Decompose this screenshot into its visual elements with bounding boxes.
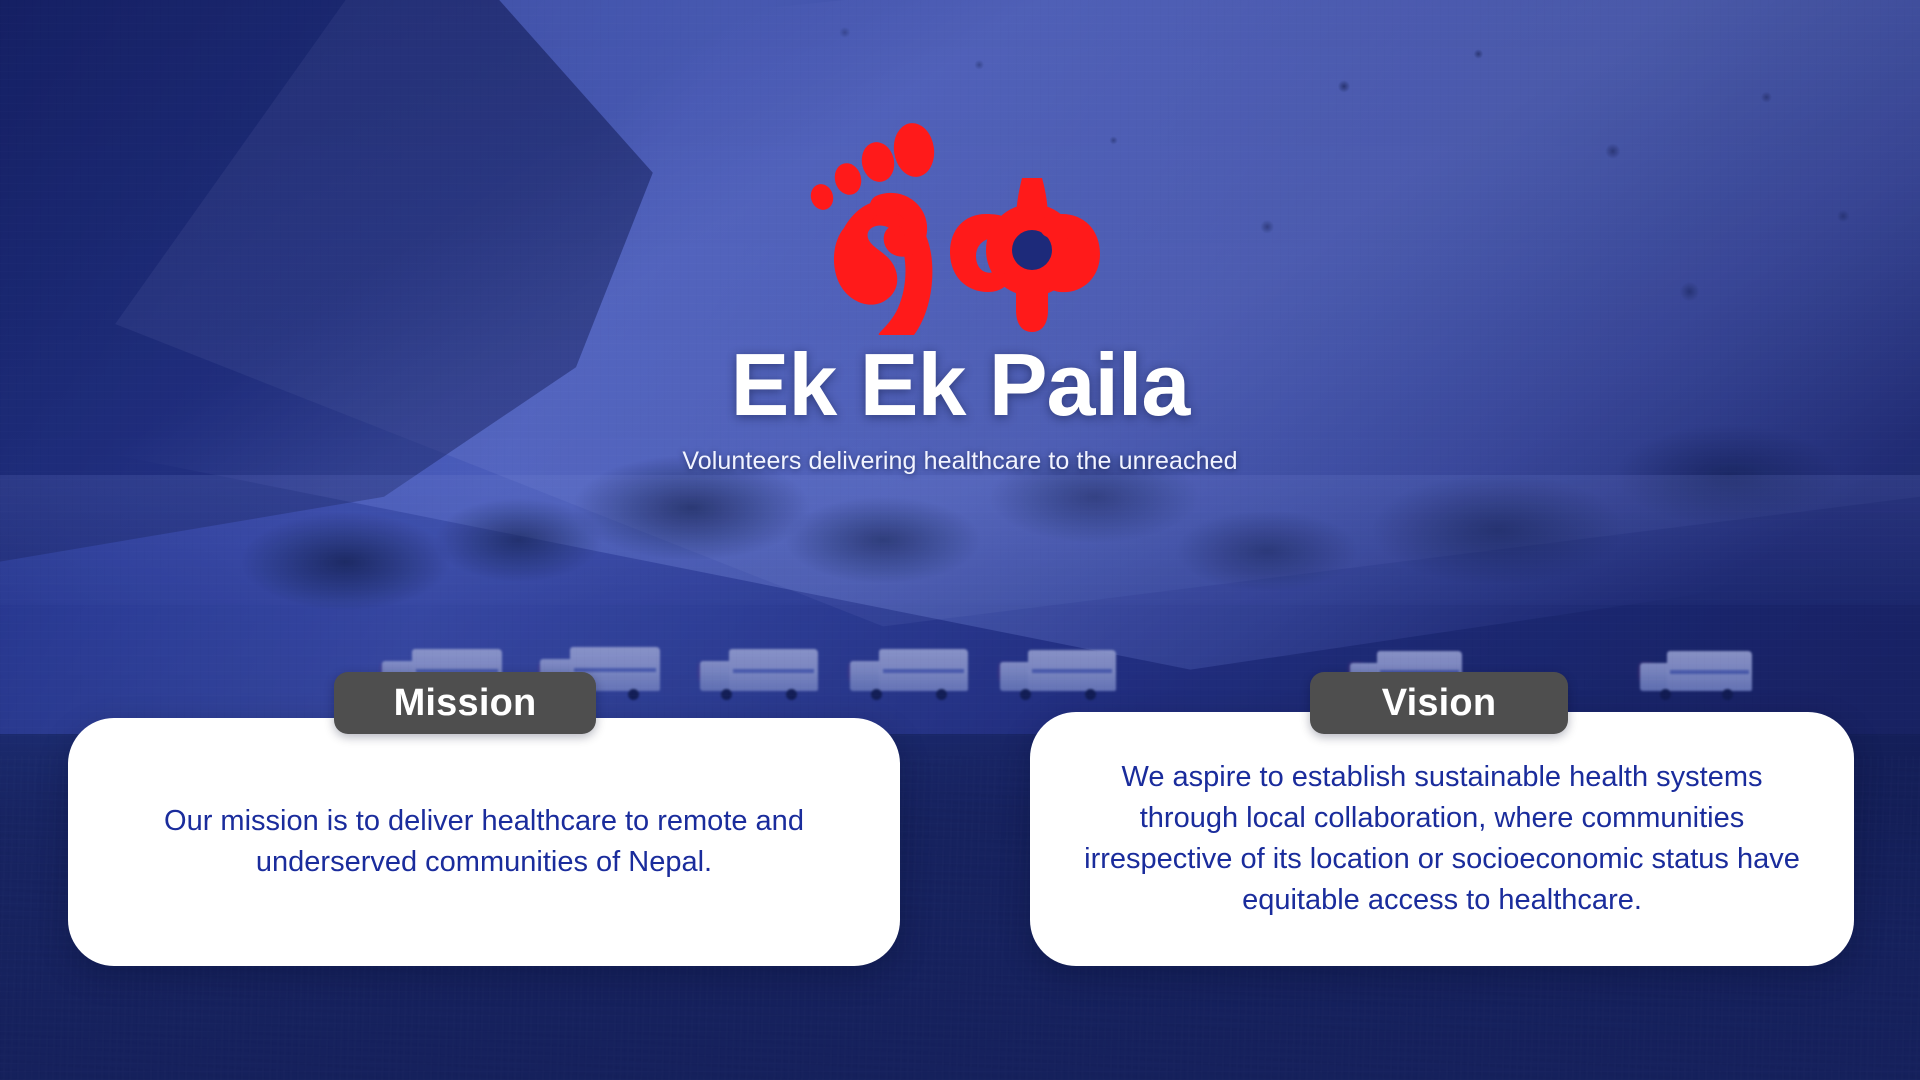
mission-tab-label: Mission	[394, 682, 537, 725]
brand-lockup: Ek Ek Paila Volunteers delivering health…	[0, 120, 1920, 476]
slide-root: Ek Ek Paila Volunteers delivering health…	[0, 0, 1920, 1080]
vision-tab[interactable]: Vision	[1310, 672, 1568, 734]
vision-card: We aspire to establish sustainable healt…	[1030, 712, 1854, 966]
mission-tab[interactable]: Mission	[334, 672, 596, 734]
vision-card-text: We aspire to establish sustainable healt…	[1074, 757, 1810, 922]
mission-card-text: Our mission is to deliver healthcare to …	[112, 801, 856, 882]
mission-card: Our mission is to deliver healthcare to …	[68, 718, 900, 966]
brand-tagline: Volunteers delivering healthcare to the …	[0, 447, 1920, 476]
brand-name: Ek Ek Paila	[0, 341, 1920, 429]
footprint-devanagari-logo-icon	[810, 120, 1110, 335]
vision-tab-label: Vision	[1382, 682, 1497, 725]
